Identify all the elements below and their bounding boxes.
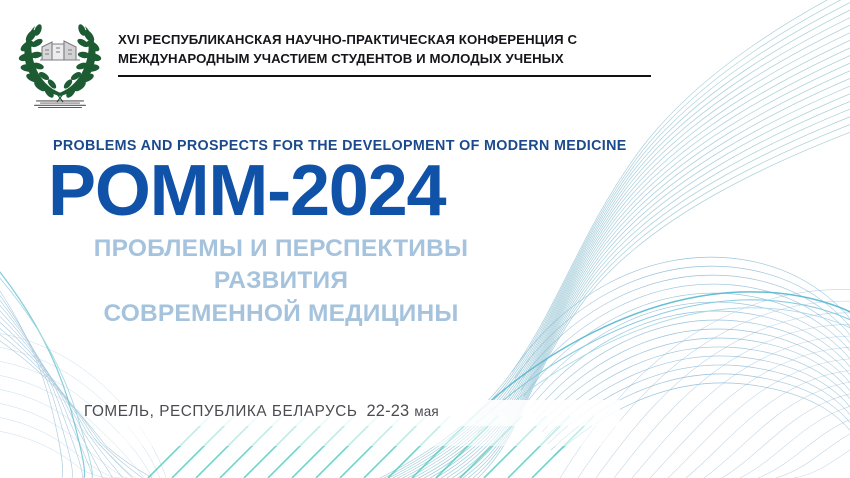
russian-subtitle-line-2: СОВРЕМЕННОЙ МЕДИЦИНЫ (56, 298, 506, 330)
event-location-and-dates: ГОМЕЛЬ, РЕСПУБЛИКА БЕЛАРУСЬ 22-23 мая (84, 402, 439, 421)
university-logo (14, 14, 106, 112)
wave-highlight-edge (470, 292, 850, 432)
russian-subtitle: ПРОБЛЕМЫ И ПЕРСПЕКТИВЫ РАЗВИТИЯ СОВРЕМЕН… (56, 233, 506, 330)
header-divider (118, 75, 651, 77)
wave-right-lobe (512, 257, 850, 456)
laurel-left (18, 23, 61, 99)
emblem-building (40, 41, 80, 60)
header-line-1: XVI РЕСПУБЛИКАНСКАЯ НАУЧНО-ПРАКТИЧЕСКАЯ … (118, 30, 654, 49)
event-dates: 22-23 (366, 402, 409, 421)
header-line-2: МЕЖДУНАРОДНЫМ УЧАСТИЕМ СТУДЕНТОВ И МОЛОД… (118, 49, 654, 68)
event-month: мая (414, 404, 439, 419)
russian-subtitle-line-1: ПРОБЛЕМЫ И ПЕРСПЕКТИВЫ РАЗВИТИЯ (94, 235, 468, 294)
page-title: POMM-2024 (48, 155, 445, 227)
event-location: ГОМЕЛЬ, РЕСПУБЛИКА БЕЛАРУСЬ (84, 403, 357, 421)
laurel-right (59, 23, 102, 99)
diagonal-stripes (148, 416, 594, 478)
poster-header: XVI РЕСПУБЛИКАНСКАЯ НАУЧНО-ПРАКТИЧЕСКАЯ … (14, 14, 654, 112)
wave-right-mesh (560, 289, 850, 478)
conference-poster: XVI РЕСПУБЛИКАНСКАЯ НАУЧНО-ПРАКТИЧЕСКАЯ … (0, 0, 850, 478)
logo-script-text (34, 100, 86, 108)
